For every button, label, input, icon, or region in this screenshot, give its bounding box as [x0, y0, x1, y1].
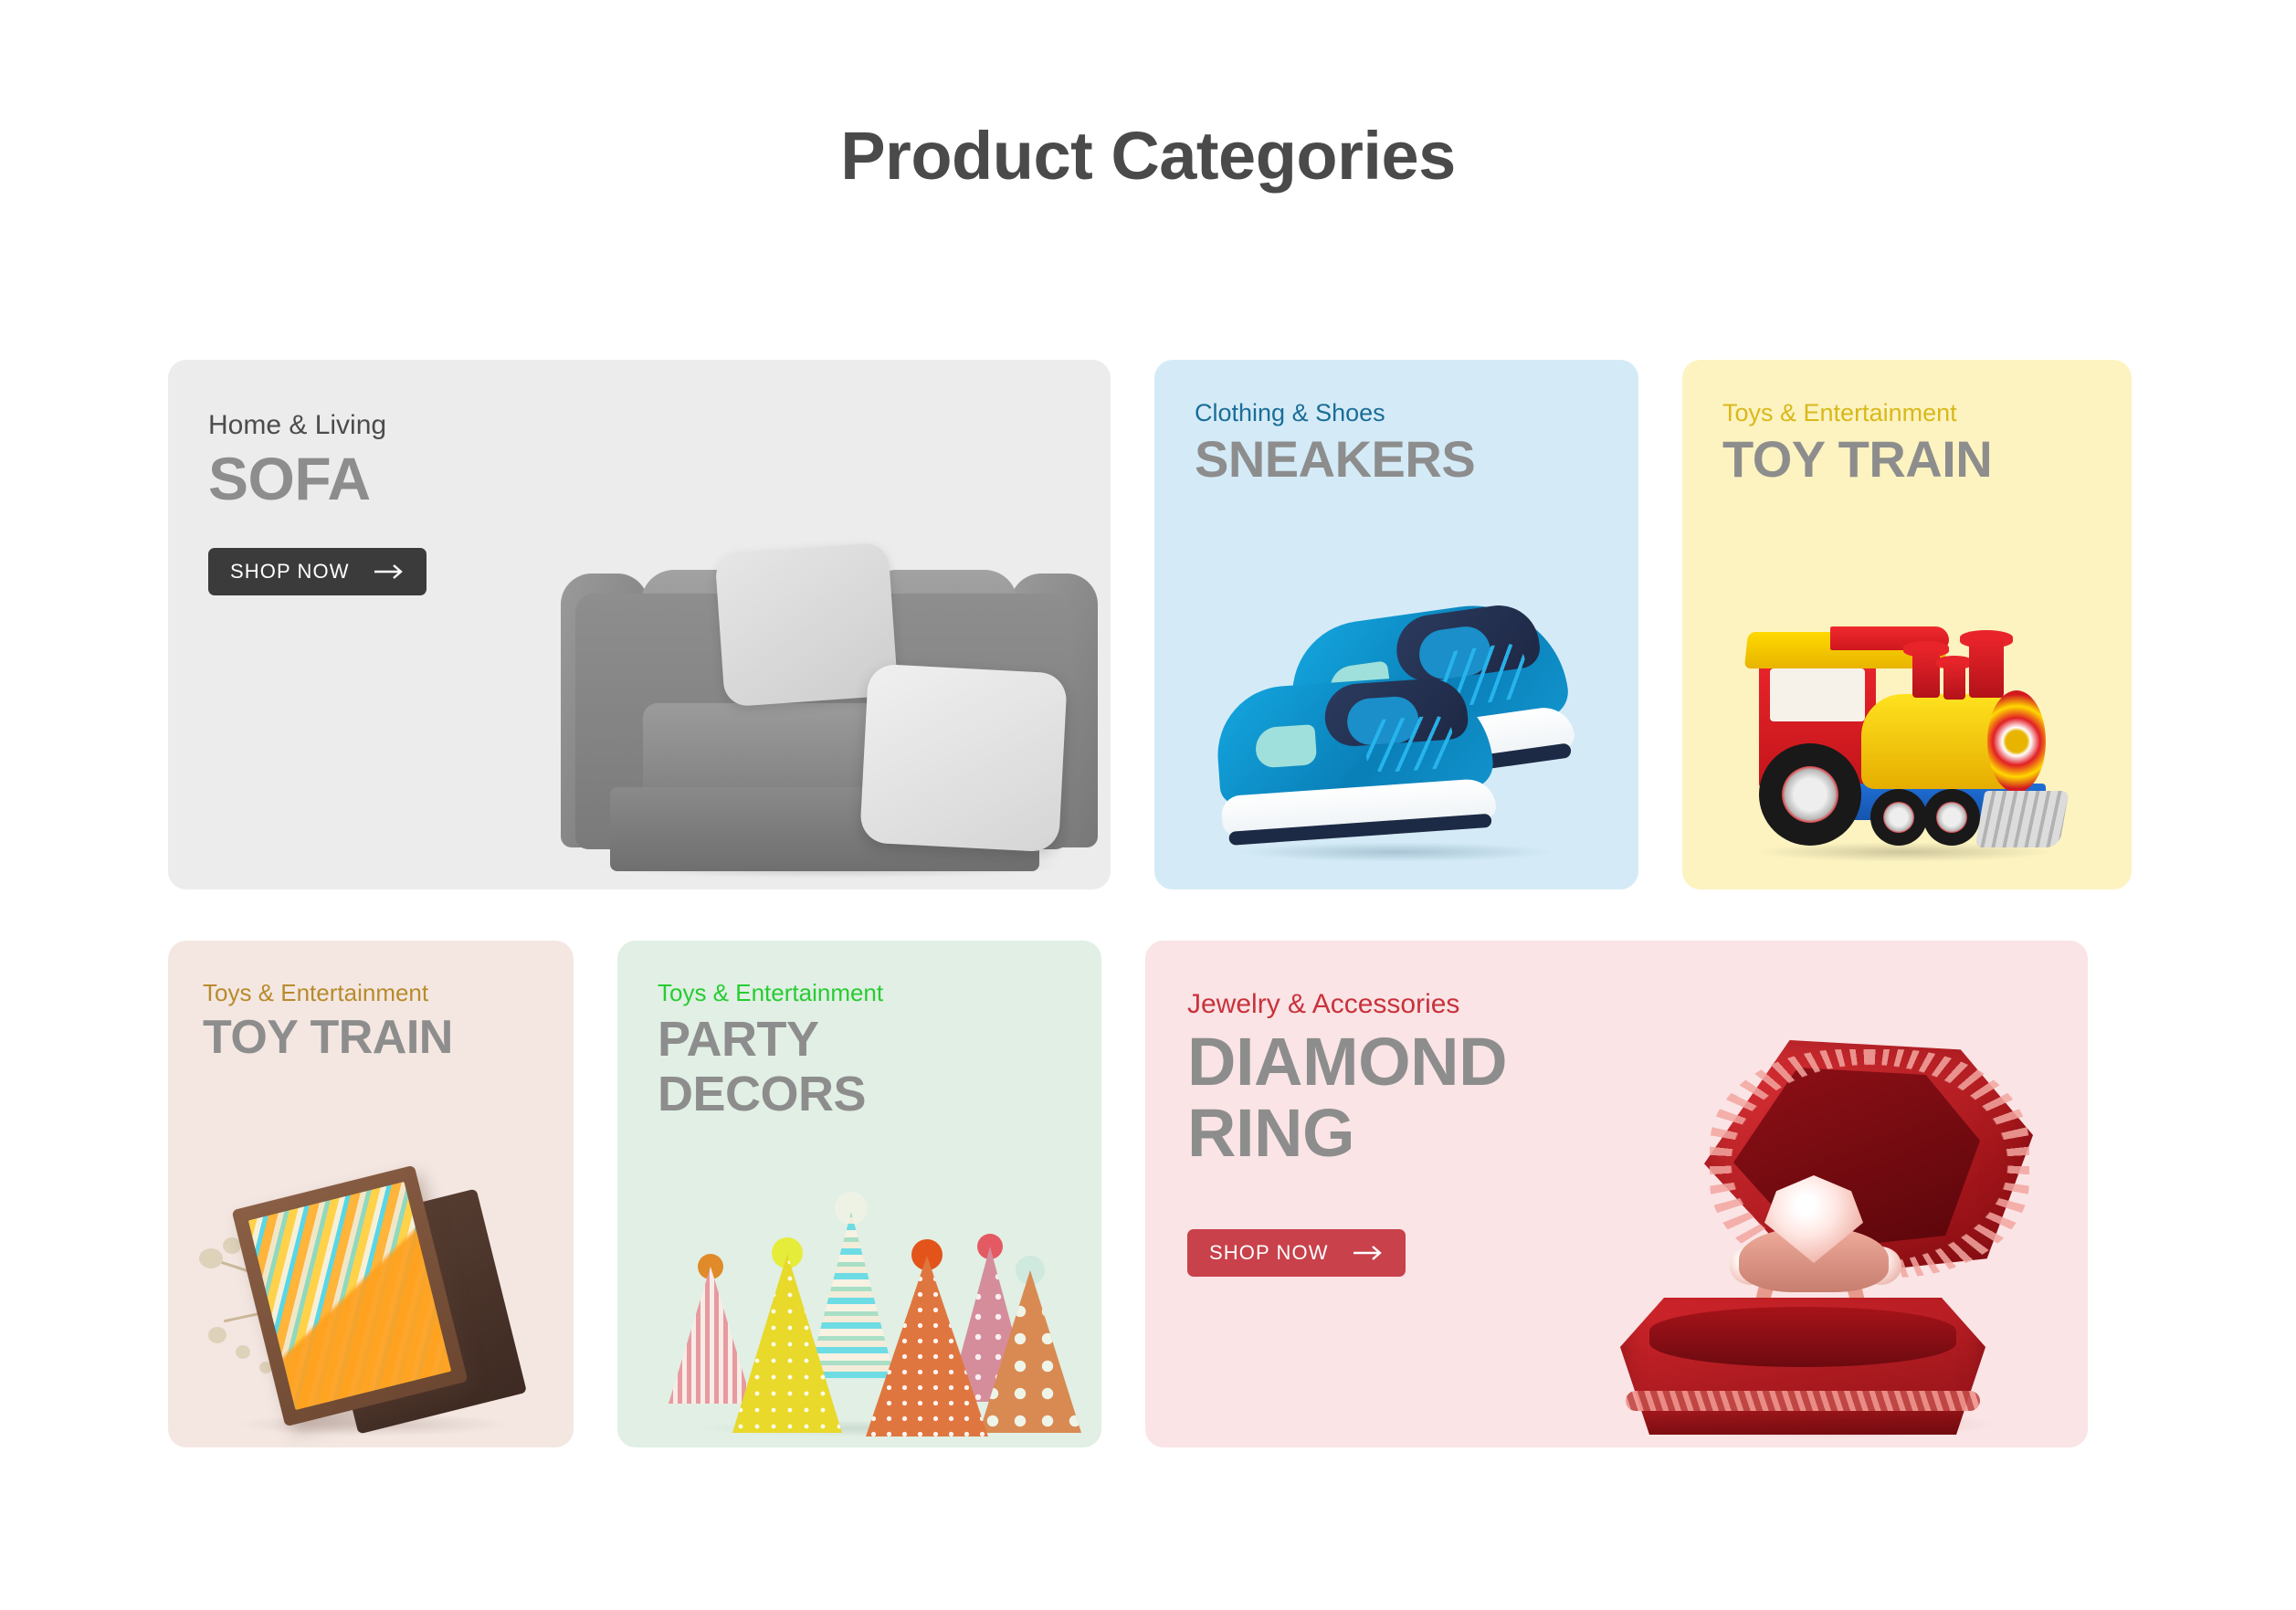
toy-train-image — [1735, 610, 2082, 866]
toy-train-beige-category-label: Toys & Entertainment — [203, 979, 453, 1007]
diamond-ring-product-title: DIAMOND RING — [1187, 1026, 1507, 1170]
toy-train-wheel-small-2 — [1923, 789, 1980, 846]
sofa-shop-now-label: SHOP NOW — [230, 560, 350, 584]
category-card-toy-train-beige[interactable]: Toys & Entertainment TOY TRAIN — [168, 941, 574, 1447]
sneakers-image — [1209, 594, 1593, 868]
toy-train-yellow-card-text: Toys & Entertainment TOY TRAIN — [1722, 398, 1992, 487]
toy-train-beige-product-title: TOY TRAIN — [203, 1013, 453, 1063]
diamond-ring-title-line-2: RING — [1187, 1098, 1507, 1169]
sofa-pillow-front — [859, 663, 1068, 852]
toy-train-stack-3 — [1969, 637, 2004, 698]
party-decors-title-line-2: DECORS — [658, 1068, 883, 1121]
page-title: Product Categories — [0, 117, 2296, 195]
sneaker-left — [1213, 672, 1497, 847]
category-card-toy-train-yellow[interactable]: Toys & Entertainment TOY TRAIN — [1682, 360, 2132, 889]
abstract-painting — [248, 1182, 452, 1410]
sneakers-card-text: Clothing & Shoes SNEAKERS — [1195, 398, 1475, 487]
picture-frame-image — [195, 1152, 542, 1444]
category-card-grid: Home & Living SOFA SHOP NOW — [168, 360, 2135, 1447]
toy-train-wheel-large — [1759, 743, 1861, 846]
arrow-right-icon — [374, 563, 405, 581]
toy-train-beige-card-text: Toys & Entertainment TOY TRAIN — [203, 979, 453, 1063]
party-decors-card-text: Toys & Entertainment PARTY DECORS — [658, 979, 883, 1121]
category-card-party-decors[interactable]: Toys & Entertainment PARTY DECORS — [617, 941, 1101, 1447]
card-row-2: Toys & Entertainment TOY TRAIN — [168, 941, 2135, 1447]
party-decors-title-line-1: PARTY — [658, 1013, 883, 1067]
toy-train-headlamp — [1987, 690, 2046, 793]
toy-train-stack-2 — [1943, 661, 1965, 700]
diamond-ring-category-label: Jewelry & Accessories — [1187, 988, 1507, 1021]
toy-train-cowcatcher — [1975, 791, 2070, 847]
toy-train-yellow-category-label: Toys & Entertainment — [1722, 398, 1992, 427]
party-hats-image — [663, 1192, 1056, 1438]
sneakers-product-title: SNEAKERS — [1195, 433, 1475, 487]
product-categories-page: Product Categories Home & Living SOFA SH… — [0, 0, 2296, 1610]
diamond-ring-shop-now-button[interactable]: SHOP NOW — [1187, 1229, 1406, 1277]
party-hat-dotted-tan — [979, 1270, 1081, 1433]
party-decors-category-label: Toys & Entertainment — [658, 979, 883, 1007]
card-row-1: Home & Living SOFA SHOP NOW — [168, 360, 2135, 889]
party-hat-dotted-orange — [866, 1256, 988, 1436]
toy-train-yellow-product-title: TOY TRAIN — [1722, 433, 1992, 487]
ring-box-base-interior — [1649, 1307, 1956, 1367]
diamond-ring-shop-now-label: SHOP NOW — [1209, 1241, 1329, 1265]
sofa-category-label: Home & Living — [208, 409, 386, 442]
ring-box-base-beading — [1626, 1391, 1980, 1411]
toy-train-wheel-small-1 — [1870, 789, 1927, 846]
category-card-sofa[interactable]: Home & Living SOFA SHOP NOW — [168, 360, 1111, 889]
party-hat-dotted-yellow — [732, 1254, 842, 1433]
toy-train-stack-1 — [1912, 648, 1940, 698]
diamond-ring-card-text: Jewelry & Accessories DIAMOND RING — [1187, 988, 1507, 1170]
party-decors-product-title: PARTY DECORS — [658, 1013, 883, 1121]
sofa-card-text: Home & Living SOFA — [208, 409, 386, 510]
sofa-image — [555, 542, 1103, 889]
category-card-sneakers[interactable]: Clothing & Shoes SNEAKERS — [1154, 360, 1638, 889]
sofa-product-title: SOFA — [208, 447, 386, 510]
arrow-right-icon — [1353, 1244, 1384, 1262]
category-card-diamond-ring[interactable]: Jewelry & Accessories DIAMOND RING SHOP … — [1145, 941, 2088, 1447]
sneakers-category-label: Clothing & Shoes — [1195, 398, 1475, 427]
diamond-ring-title-line-1: DIAMOND — [1187, 1026, 1507, 1098]
toy-train-window — [1770, 668, 1865, 721]
sofa-shop-now-button[interactable]: SHOP NOW — [208, 548, 427, 595]
sneakers-shadow — [1237, 842, 1556, 862]
diamond-ring-image — [1585, 1026, 2060, 1447]
